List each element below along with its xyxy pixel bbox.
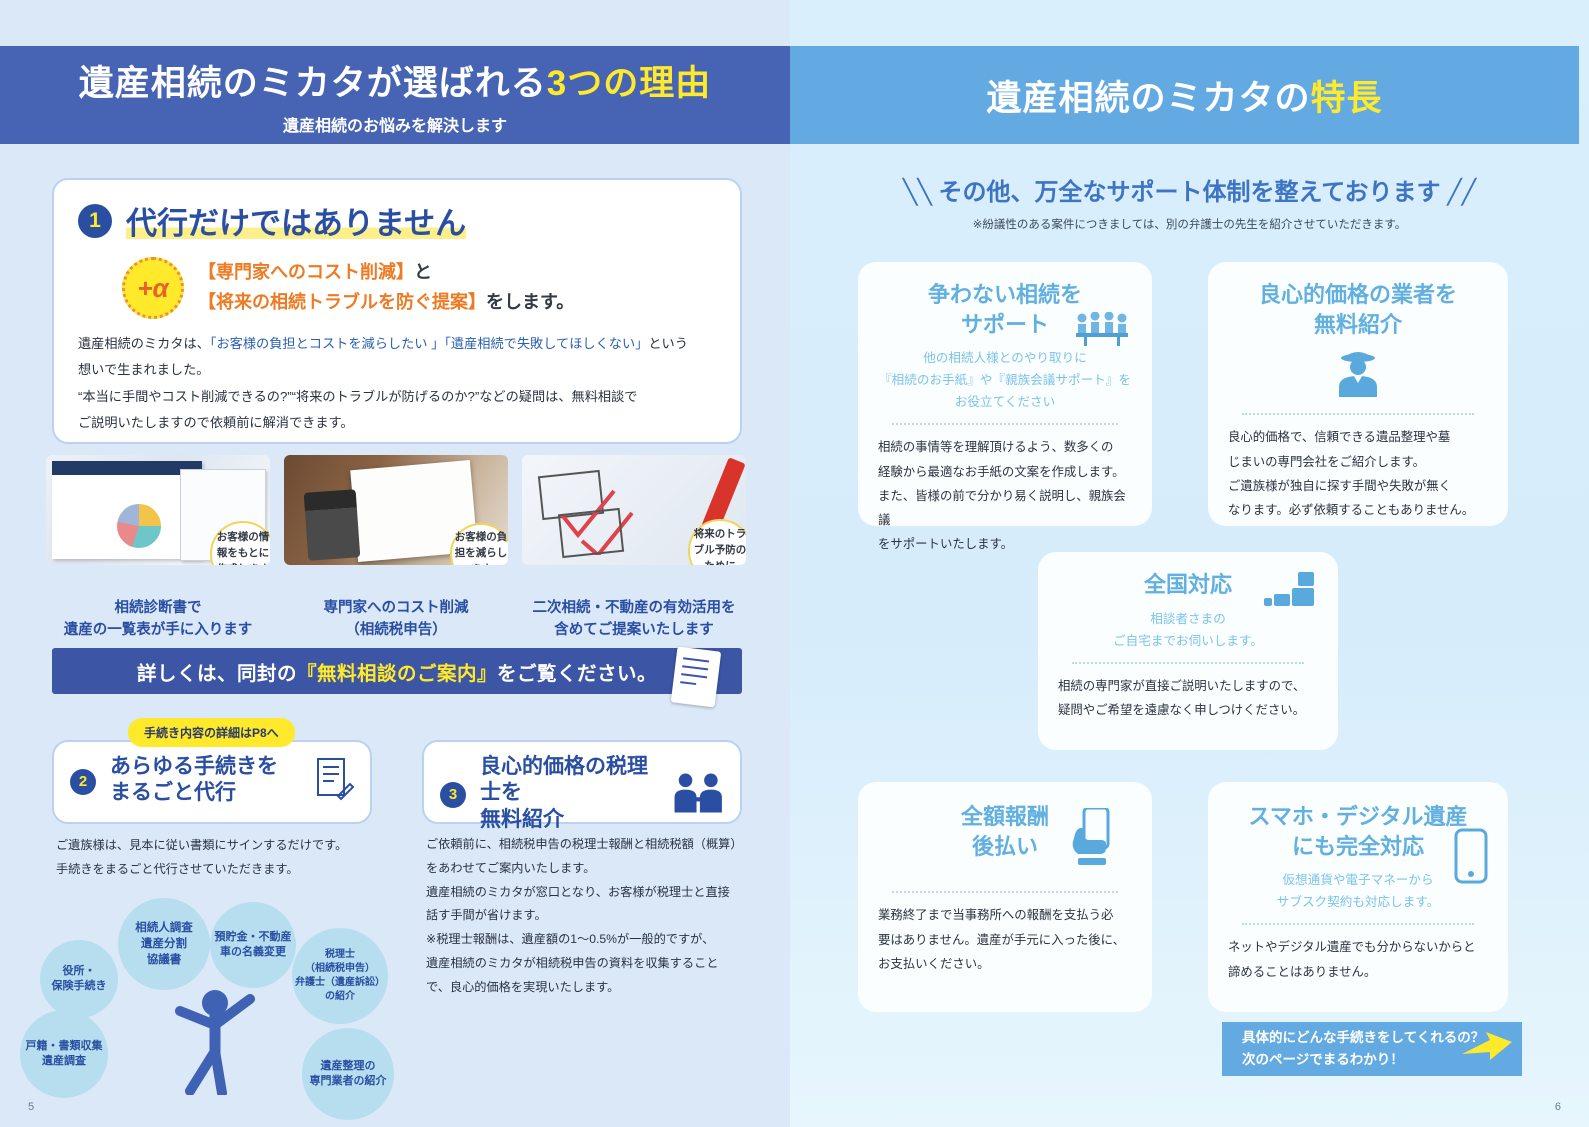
s1-p2: 想いで生まれました。: [78, 357, 716, 383]
left-slash-decoration: ╲╲: [903, 178, 932, 207]
section-1-alpha-row: +α 【専門家へのコスト削減】と 【将来の相続トラブルを防ぐ提案】をします。: [78, 257, 716, 319]
card-divider: [892, 891, 1118, 893]
left-header-title-plain: 遺産相続のミカタが選ばれる: [79, 64, 547, 103]
photo-caption: 専門家へのコスト削減 （相続税申告）: [284, 597, 508, 642]
right-note: ※紛議性のある案件につきましては、別の弁護士の先生を紹介させていただきます。: [790, 216, 1589, 232]
free-consultation-banner: 詳しくは、同封の『無料相談のご案内』をご覧ください。: [52, 648, 742, 694]
section-1-body: 遺産相続のミカタは、「お客様の負担とコストを減らしたい 」「遺産相続で失敗してほ…: [78, 331, 716, 437]
photo-caption-line1: 相続診断書で: [46, 597, 270, 619]
card-divider: [1242, 923, 1474, 925]
card-body: ネットやデジタル遺産でも分からないからと 諦めることはありません。: [1224, 935, 1492, 983]
section-3-number-badge: 3: [440, 782, 466, 808]
card-body-line2: 経験から最適なお手紙の文案を作成します。: [878, 460, 1132, 484]
photo-item: 将来のトラブル予防のために 二次相続・不動産の有効活用を 含めてご提案いたします: [522, 455, 746, 642]
card-subtext: 仮想通貨や電子マネーから サブスク契約も対応します。: [1224, 869, 1492, 913]
card-body-line1: 相続の専門家が直接ご説明いたしますので、: [1058, 674, 1318, 698]
left-header-subtitle: 遺産相続のお悩みを解決します: [283, 112, 507, 136]
left-page-number: 5: [28, 1101, 34, 1113]
card-sub-line1: 仮想通貨や電子マネーから: [1224, 869, 1492, 891]
card-title: 良心的価格の業者を 無料紹介: [1224, 280, 1492, 339]
banner-text-after: をご覧ください。: [497, 663, 657, 685]
right-header-title-highlight: 特長: [1311, 79, 1383, 118]
card-body: 業務終了まで当事務所への報酬を支払う必 要はありません。遺産が手元に入った後に、…: [874, 903, 1136, 976]
calculator-document-photo: お客様の負担を減らします: [284, 455, 508, 565]
feature-card-no-dispute: 争わない相続を サポート 他の相続人様とのやり取りに 『相続のお手紙』や『親族会…: [858, 262, 1152, 526]
photo-bubble: お客様の負担を減らします: [450, 523, 508, 565]
next-page-banner: 具体的にどんな手続きをしてくれるの？ 次のページでまるわかり！: [1222, 1022, 1522, 1076]
card-body-line2: 諦めることはありません。: [1228, 960, 1488, 984]
right-slash-decoration: ╱╱: [1447, 178, 1476, 207]
s1-p4: ご説明いたしますので依頼前に解消できます。: [78, 410, 716, 436]
photo-caption: 相続診断書で 遺産の一覧表が手に入ります: [46, 597, 270, 642]
photo-caption-line2: 遺産の一覧表が手に入ります: [46, 619, 270, 641]
smartphone-icon: [1454, 828, 1488, 884]
photo-bubble: 将来のトラブル予防のために: [688, 519, 746, 565]
card-body: 良心的価格で、信頼できる遺品整理や墓 じまいの専門会社をご紹介します。 ご遺族様…: [1224, 425, 1492, 522]
section-3-body-line5: ※税理士報酬は、遺産額の1〜0.5%が一般的ですが、: [426, 928, 756, 952]
red-check-icon: [556, 485, 636, 555]
left-header-title-highlight: 3つの理由: [547, 64, 711, 103]
worker-with-cap-icon: [1335, 345, 1381, 397]
card-body: 相続の専門家が直接ご説明いたしますので、 疑問やご希望を遠慮なく申しつけください…: [1054, 674, 1322, 722]
alpha-line2-orange: 【将来の相続トラブルを防ぐ提案】: [198, 292, 486, 312]
feature-card-fair-price-vendor: 良心的価格の業者を 無料紹介 良心的価格で、信頼できる遺品整理や墓 じまいの専門…: [1208, 262, 1508, 526]
right-header-title: 遺産相続のミカタの特長: [986, 70, 1382, 121]
task-circle: 遺産整理の 専門業者の紹介: [302, 1028, 394, 1120]
card-sub-line3: お役立てください: [874, 391, 1136, 413]
section-3-body-line1: ご依頼前に、相続税申告の税理士報酬と相続税額（概算）: [426, 833, 756, 857]
card-divider: [892, 423, 1118, 425]
section-1-card: 1 代行だけではありません +α 【専門家へのコスト削減】と 【将来の相続トラブ…: [52, 178, 742, 444]
right-page-number: 6: [1555, 1101, 1561, 1113]
task-circle: 税理士 （相続税申告） 弁護士（遺産訴訟） の紹介: [292, 928, 388, 1024]
photo-item: お客様の負担を減らします 専門家へのコスト削減 （相続税申告）: [284, 455, 508, 642]
right-subheading-text: その他、万全なサポート体制を整えております: [938, 179, 1440, 206]
section-3-body-line2: をあわせてご案内いたします。: [426, 857, 756, 881]
banner-text-before: 詳しくは、同封の: [137, 663, 297, 685]
cheering-person-icon: [170, 985, 260, 1095]
card-body-line3: お支払いください。: [878, 952, 1132, 976]
feature-card-deferred-payment: 全額報酬 後払い 業務終了まで当事務所への報酬を支払う必 要はありません。遺産が…: [858, 782, 1152, 1012]
feature-card-nationwide: 全国対応 相談者さまの ご自宅までお伺いします。 相続の専門家が直接ご説明いたし…: [1038, 552, 1338, 750]
section-3-body: ご依頼前に、相続税申告の税理士報酬と相続税額（概算） をあわせてご案内いたします…: [426, 833, 756, 999]
s1-p1c: という: [648, 336, 688, 351]
section-1-number-badge: 1: [78, 204, 112, 238]
section-3-heading: 良心的価格の税理士を 無料紹介: [480, 754, 658, 833]
section-2-heading: あらゆる手続きを まるごと代行: [110, 754, 278, 807]
card-body-line1: 相続の事情等を理解頂けるよう、数多くの: [878, 435, 1132, 459]
card-body-line2: じまいの専門会社をご紹介します。: [1228, 450, 1488, 474]
section-3-card: 3 良心的価格の税理士を 無料紹介: [422, 740, 742, 824]
card-body-line1: ネットやデジタル遺産でも分からないからと: [1228, 935, 1488, 959]
alpha-line1-dark: と: [414, 262, 432, 282]
section-2-title-row: 2 あらゆる手続きを まるごと代行: [70, 754, 354, 807]
card-body-line4: なります。必ず依頼することもありません。: [1228, 498, 1488, 522]
right-subheading: ╲╲ その他、万全なサポート体制を整えております ╱╱: [790, 172, 1589, 207]
section-3-body-line7: で、良心的価格を実現いたします。: [426, 976, 756, 1000]
next-page-banner-line1: 具体的にどんな手続きをしてくれるの？: [1242, 1027, 1484, 1049]
section-3-body-line3: 遺産相続のミカタが窓口となり、お客様が税理士と直接: [426, 881, 756, 905]
section-2-body-line2: 手続きをまるごと代行させていただきます。: [56, 857, 386, 881]
alpha-line1-orange: 【専門家へのコスト削減】: [198, 262, 414, 282]
card-title-line1: スマホ・デジタル遺産: [1224, 802, 1492, 832]
document-icon: [671, 647, 721, 708]
section-2-body: ご遺族様は、見本に従い書類にサインするだけです。 手続きをまるごと代行させていた…: [56, 833, 386, 882]
section-3-heading-line2: 無料紹介: [480, 807, 658, 833]
photo-strip: お客様の情報をもとに作成します 相続診断書で 遺産の一覧表が手に入ります お客様…: [46, 455, 746, 642]
right-page: 遺産相続のミカタの特長 ╲╲ その他、万全なサポート体制を整えております ╱╱ …: [790, 0, 1589, 1127]
section-1-alpha-text: 【専門家へのコスト削減】と 【将来の相続トラブルを防ぐ提案】をします。: [198, 258, 574, 317]
plus-alpha-badge: +α: [122, 257, 184, 319]
family-meeting-icon: [1074, 312, 1130, 346]
card-body-line3: ご遺族様が独自に探す手間や失敗が無く: [1228, 474, 1488, 498]
task-circle: 役所・ 保険手続き: [40, 940, 118, 1018]
task-circle: 戸籍・書類収集 遺産調査: [20, 1010, 108, 1098]
section-3-heading-line1: 良心的価格の税理士を: [480, 754, 658, 807]
card-divider: [1242, 413, 1474, 415]
left-page: 遺産相続のミカタが選ばれる3つの理由 遺産相続のお悩みを解決します 1 代行だけ…: [0, 0, 790, 1127]
card-title-line2: にも完全対応: [1224, 832, 1492, 862]
card-sub-line2: サブスク契約も対応します。: [1224, 891, 1492, 913]
right-header-title-plain: 遺産相続のミカタの: [986, 79, 1310, 118]
card-body-line2: 要はありません。遺産が手元に入った後に、: [878, 928, 1132, 952]
photo-item: お客様の情報をもとに作成します 相続診断書で 遺産の一覧表が手に入ります: [46, 455, 270, 642]
map-blocks-icon: [1264, 572, 1320, 616]
task-circle: 相続人調査 遺産分割 協議書: [118, 898, 210, 990]
right-page-header: 遺産相続のミカタの特長: [790, 46, 1579, 144]
section-3-body-line6: 遺産相続のミカタが相続税申告の資料を収集すること: [426, 952, 756, 976]
task-circle: 預貯金・不動産 車の名義変更: [210, 902, 296, 988]
next-page-banner-text: 具体的にどんな手続きをしてくれるの？ 次のページでまるわかり！: [1242, 1027, 1484, 1070]
section-2-heading-line2: まるごと代行: [110, 780, 278, 806]
card-sub-line2: 『相続のお手紙』や『親族会議サポート』を: [874, 369, 1136, 391]
photo-caption-line2: （相続税申告）: [284, 619, 508, 641]
card-title-line2: 無料紹介: [1224, 310, 1492, 340]
section-1-title-row: 1 代行だけではありません: [78, 198, 716, 243]
s1-p1b: 「お客様の負担とコストを減らしたい 」「遺産相続で失敗してほしくない」: [210, 336, 648, 351]
section-2-number-badge: 2: [70, 769, 96, 795]
card-body: 相続の事情等を理解頂けるよう、数多くの 経験から最適なお手紙の文案を作成します。…: [874, 435, 1136, 556]
two-people-handshake-icon: [672, 768, 724, 818]
left-header-title: 遺産相続のミカタが選ばれる3つの理由: [79, 55, 711, 106]
photo-caption: 二次相続・不動産の有効活用を 含めてご提案いたします: [522, 597, 746, 642]
left-page-header: 遺産相続のミカタが選ばれる3つの理由 遺産相続のお悩みを解決します: [0, 46, 790, 144]
banner-text-highlight: 『無料相談のご案内』: [297, 663, 497, 685]
card-divider: [1072, 662, 1304, 664]
section-3-title-row: 3 良心的価格の税理士を 無料紹介: [440, 754, 724, 833]
s1-p1a: 遺産相続のミカタは、: [78, 336, 210, 351]
p8-reference-pill: 手続き内容の詳細はP8へ: [128, 718, 295, 747]
s1-p3: “本当に手間やコスト削減できるの?”“将来のトラブルが防げるのか?”などの疑問は…: [78, 384, 716, 410]
card-body-line3: また、皆様の前で分かり易く説明し、親族会議: [878, 484, 1132, 532]
card-body-line1: 業務終了まで当事務所への報酬を支払う必: [878, 903, 1132, 927]
checkmark-pencil-photo: 将来のトラブル予防のために: [522, 455, 746, 565]
card-body-line1: 良心的価格で、信頼できる遺品整理や墓: [1228, 425, 1488, 449]
card-title-line1: 争わない相続を: [874, 280, 1136, 310]
brochure-spread: 遺産相続のミカタが選ばれる3つの理由 遺産相続のお悩みを解決します 1 代行だけ…: [0, 0, 1589, 1127]
photo-caption-line1: 専門家へのコスト削減: [284, 597, 508, 619]
diagnosis-report-photo: お客様の情報をもとに作成します: [46, 455, 270, 565]
card-title: スマホ・デジタル遺産 にも完全対応: [1224, 802, 1492, 861]
card-subtext: 他の相続人様とのやり取りに 『相続のお手紙』や『親族会議サポート』を お役立てく…: [874, 347, 1136, 413]
section-2-body-line1: ご遺族様は、見本に従い書類にサインするだけです。: [56, 833, 386, 857]
card-body-line2: 疑問やご希望を遠慮なく申しつけください。: [1058, 698, 1318, 722]
photo-caption-line2: 含めてご提案いたします: [522, 619, 746, 641]
card-sub-line1: 他の相続人様とのやり取りに: [874, 347, 1136, 369]
document-pen-icon: [314, 756, 354, 804]
feature-card-digital-assets: スマホ・デジタル遺産 にも完全対応 仮想通貨や電子マネーから サブスク契約も対応…: [1208, 782, 1508, 1012]
section-2-heading-line1: あらゆる手続きを: [110, 754, 278, 780]
alpha-line2-dark: をします。: [486, 292, 574, 312]
section-3-body-line4: 話す手間が省けます。: [426, 904, 756, 928]
card-title-line1: 良心的価格の業者を: [1224, 280, 1492, 310]
yellow-arrow-icon: [1460, 1030, 1514, 1066]
next-page-banner-line2: 次のページでまるわかり！: [1242, 1049, 1484, 1071]
banner-text: 詳しくは、同封の『無料相談のご案内』をご覧ください。: [137, 657, 657, 686]
section-2-card: 2 あらゆる手続きを まるごと代行: [52, 740, 372, 824]
section-1-heading: 代行だけではありません: [126, 206, 466, 241]
hand-holding-phone-icon: [1070, 808, 1114, 870]
card-sub-line2: ご自宅までお伺いします。: [1054, 630, 1322, 652]
photo-caption-line1: 二次相続・不動産の有効活用を: [522, 597, 746, 619]
